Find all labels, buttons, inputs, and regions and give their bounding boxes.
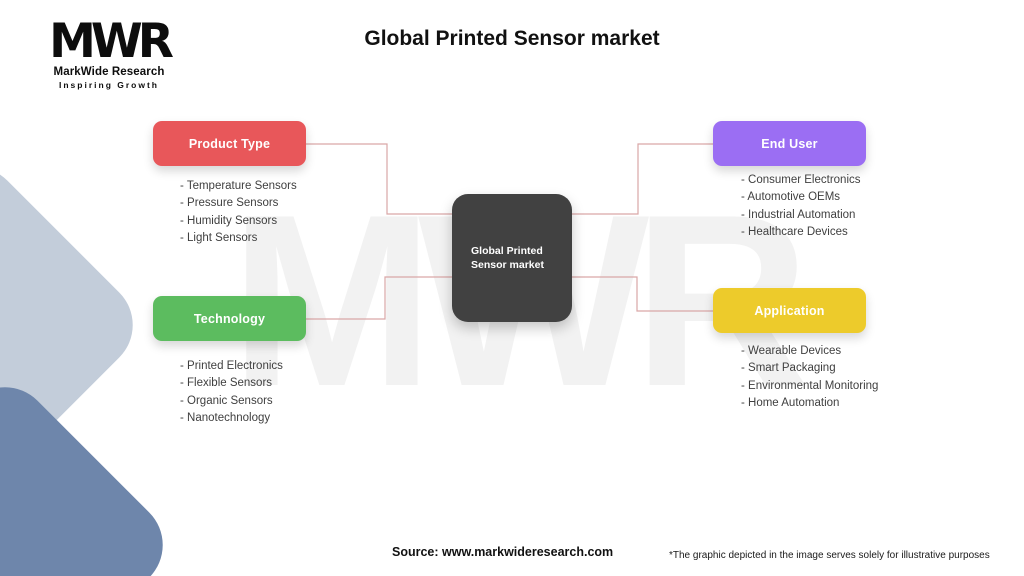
connector-application <box>572 277 713 311</box>
source-attribution: Source: www.markwideresearch.com <box>392 545 613 559</box>
branch-label-application: Application <box>754 304 824 318</box>
list-item: - Humidity Sensors <box>180 213 297 230</box>
list-item: - Temperature Sensors <box>180 178 297 195</box>
branch-label-product-type: Product Type <box>189 137 270 151</box>
list-item: - Organic Sensors <box>180 393 283 410</box>
center-node-line-2: Sensor market <box>471 259 544 271</box>
list-item: - Home Automation <box>741 395 878 412</box>
branch-list-application: - Wearable Devices - Smart Packaging - E… <box>741 343 878 413</box>
list-item: - Automotive OEMs <box>741 189 861 206</box>
center-node-label: Global Printed Sensor market <box>452 244 544 272</box>
list-item: - Wearable Devices <box>741 343 878 360</box>
infographic-canvas: MWR MWR MarkWide Research Inspiring Grow… <box>0 0 1024 576</box>
connector-technology <box>306 277 452 319</box>
list-item: - Smart Packaging <box>741 360 878 377</box>
list-item: - Healthcare Devices <box>741 224 861 241</box>
list-item: - Environmental Monitoring <box>741 378 878 395</box>
list-item: - Consumer Electronics <box>741 172 861 189</box>
branch-box-end-user[interactable]: End User <box>713 121 866 166</box>
list-item: - Flexible Sensors <box>180 375 283 392</box>
list-item: - Light Sensors <box>180 230 297 247</box>
branch-list-product-type: - Temperature Sensors - Pressure Sensors… <box>180 178 297 248</box>
center-node[interactable]: Global Printed Sensor market <box>452 194 572 322</box>
branch-list-end-user: - Consumer Electronics - Automotive OEMs… <box>741 172 861 242</box>
list-item: - Pressure Sensors <box>180 195 297 212</box>
list-item: - Nanotechnology <box>180 410 283 427</box>
branch-label-end-user: End User <box>761 137 817 151</box>
branch-label-technology: Technology <box>194 312 265 326</box>
branch-box-product-type[interactable]: Product Type <box>153 121 306 166</box>
branch-list-technology: - Printed Electronics - Flexible Sensors… <box>180 358 283 428</box>
disclaimer-note: *The graphic depicted in the image serve… <box>669 550 990 561</box>
list-item: - Printed Electronics <box>180 358 283 375</box>
list-item: - Industrial Automation <box>741 207 861 224</box>
center-node-line-1: Global Printed <box>471 245 543 257</box>
connector-product-type <box>306 144 452 214</box>
branch-box-technology[interactable]: Technology <box>153 296 306 341</box>
connector-end-user <box>572 144 713 214</box>
branch-box-application[interactable]: Application <box>713 288 866 333</box>
